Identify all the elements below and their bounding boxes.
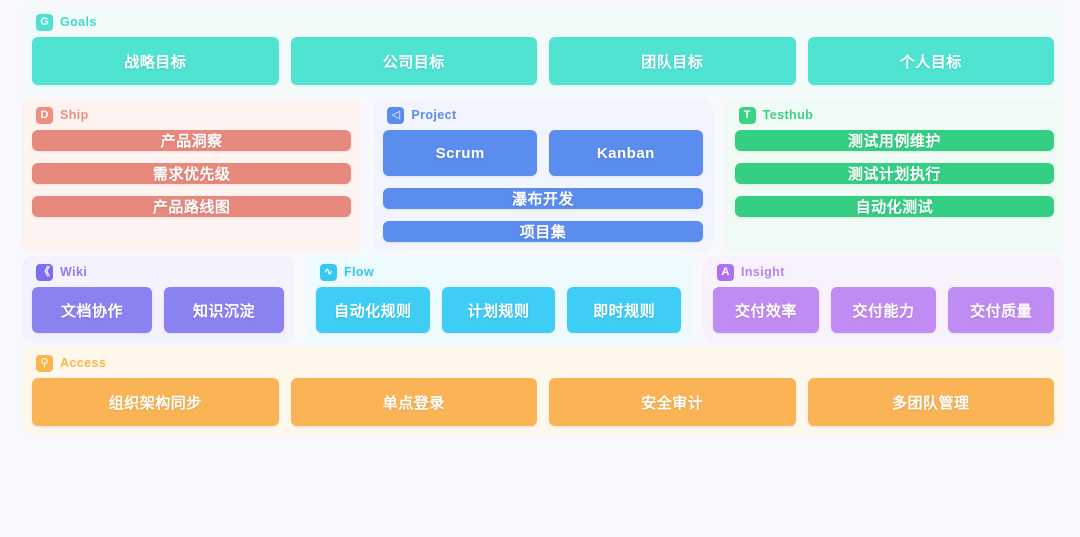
insight-item-0[interactable]: 交付效率: [713, 287, 819, 333]
testhub-icon: T: [739, 107, 756, 124]
testhub-item-0[interactable]: 测试用例维护: [735, 130, 1054, 151]
testhub-button-column: 测试用例维护 测试计划执行 自动化测试: [735, 130, 1054, 217]
wiki-item-1[interactable]: 知识沉淀: [164, 287, 284, 333]
access-item-1[interactable]: 单点登录: [291, 378, 538, 426]
project-icon: ◁: [387, 107, 404, 124]
section-project: ◁ Project Scrum Kanban 瀑布开发 项目集: [373, 99, 712, 252]
lower-band: 《 Wiki 文档协作 知识沉淀 ∿ Flow 自动化规则 计划规则 即时规则 …: [22, 256, 1064, 343]
flow-icon: ∿: [320, 264, 337, 281]
project-button-column: Scrum Kanban 瀑布开发 项目集: [383, 130, 702, 242]
section-ship: D Ship 产品洞察 需求优先级 产品路线图: [22, 99, 361, 252]
section-title-goals: Goals: [60, 15, 97, 29]
insight-item-1[interactable]: 交付能力: [831, 287, 937, 333]
section-title-project: Project: [411, 108, 456, 122]
ship-button-column: 产品洞察 需求优先级 产品路线图: [32, 130, 351, 217]
goals-item-0[interactable]: 战略目标: [32, 37, 279, 85]
testhub-item-2[interactable]: 自动化测试: [735, 196, 1054, 217]
access-item-0[interactable]: 组织架构同步: [32, 378, 279, 426]
section-title-testhub: Testhub: [763, 108, 813, 122]
section-header-ship: D Ship: [32, 103, 351, 127]
access-item-2[interactable]: 安全审计: [549, 378, 796, 426]
product-capability-map: G Goals 战略目标 公司目标 团队目标 个人目标 D Ship 产品洞察 …: [0, 0, 1080, 537]
goals-button-row: 战略目标 公司目标 团队目标 个人目标: [32, 37, 1054, 85]
section-header-wiki: 《 Wiki: [32, 260, 284, 284]
section-header-access: ⚲ Access: [32, 351, 1054, 375]
project-item-1[interactable]: 项目集: [383, 221, 702, 242]
section-title-access: Access: [60, 356, 106, 370]
ship-item-0[interactable]: 产品洞察: [32, 130, 351, 151]
goals-icon: G: [36, 14, 53, 31]
project-item-kanban[interactable]: Kanban: [549, 130, 703, 176]
section-header-goals: G Goals: [32, 10, 1054, 34]
goals-item-1[interactable]: 公司目标: [291, 37, 538, 85]
flow-item-0[interactable]: 自动化规则: [316, 287, 430, 333]
testhub-item-1[interactable]: 测试计划执行: [735, 163, 1054, 184]
section-header-project: ◁ Project: [383, 103, 702, 127]
project-item-scrum[interactable]: Scrum: [383, 130, 537, 176]
section-goals: G Goals 战略目标 公司目标 团队目标 个人目标: [22, 6, 1064, 95]
section-testhub: T Testhub 测试用例维护 测试计划执行 自动化测试: [725, 99, 1064, 252]
insight-button-row: 交付效率 交付能力 交付质量: [713, 287, 1054, 333]
insight-item-2[interactable]: 交付质量: [948, 287, 1054, 333]
section-title-ship: Ship: [60, 108, 89, 122]
section-header-testhub: T Testhub: [735, 103, 1054, 127]
ship-item-2[interactable]: 产品路线图: [32, 196, 351, 217]
goals-item-3[interactable]: 个人目标: [808, 37, 1055, 85]
section-header-flow: ∿ Flow: [316, 260, 681, 284]
goals-item-2[interactable]: 团队目标: [549, 37, 796, 85]
section-title-insight: Insight: [741, 265, 785, 279]
flow-item-2[interactable]: 即时规则: [567, 287, 681, 333]
section-title-wiki: Wiki: [60, 265, 87, 279]
wiki-button-row: 文档协作 知识沉淀: [32, 287, 284, 333]
wiki-icon: 《: [36, 264, 53, 281]
wiki-item-0[interactable]: 文档协作: [32, 287, 152, 333]
flow-button-row: 自动化规则 计划规则 即时规则: [316, 287, 681, 333]
flow-item-1[interactable]: 计划规则: [442, 287, 556, 333]
section-access: ⚲ Access 组织架构同步 单点登录 安全审计 多团队管理: [22, 347, 1064, 436]
section-wiki: 《 Wiki 文档协作 知识沉淀: [22, 256, 294, 343]
ship-item-1[interactable]: 需求优先级: [32, 163, 351, 184]
project-item-0[interactable]: 瀑布开发: [383, 188, 702, 209]
insight-icon: A: [717, 264, 734, 281]
section-flow: ∿ Flow 自动化规则 计划规则 即时规则: [306, 256, 691, 343]
section-header-insight: A Insight: [713, 260, 1054, 284]
middle-band: D Ship 产品洞察 需求优先级 产品路线图 ◁ Project Scrum …: [22, 99, 1064, 252]
section-title-flow: Flow: [344, 265, 374, 279]
access-item-3[interactable]: 多团队管理: [808, 378, 1055, 426]
section-insight: A Insight 交付效率 交付能力 交付质量: [703, 256, 1064, 343]
project-split-row: Scrum Kanban: [383, 130, 702, 176]
access-icon: ⚲: [36, 355, 53, 372]
access-button-row: 组织架构同步 单点登录 安全审计 多团队管理: [32, 378, 1054, 426]
ship-icon: D: [36, 107, 53, 124]
